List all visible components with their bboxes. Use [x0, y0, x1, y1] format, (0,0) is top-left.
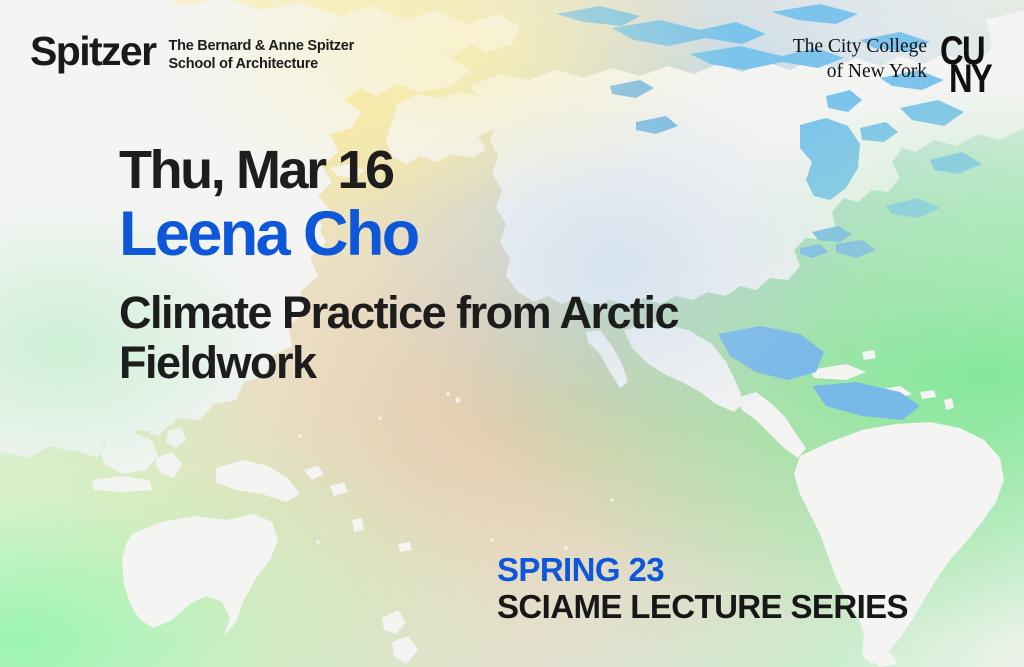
cuny-logo-bottom-letters: NY	[949, 58, 991, 98]
event-headline-block: Thu, Mar 16 Leena Cho Climate Practice f…	[119, 143, 949, 387]
lecture-series-block: SPRING 23 SCIAME LECTURE SERIES	[497, 553, 908, 625]
spitzer-wordmark: Spitzer	[30, 31, 156, 71]
spitzer-logo-lockup: Spitzer The Bernard & Anne Spitzer Schoo…	[30, 31, 354, 74]
spitzer-tagline: The Bernard & Anne Spitzer School of Arc…	[169, 38, 355, 74]
speaker-name: Leena Cho	[119, 203, 949, 266]
event-date: Thu, Mar 16	[119, 143, 949, 197]
series-name: SCIAME LECTURE SERIES	[497, 590, 908, 625]
cuny-logo-icon: CU NY	[940, 28, 1002, 90]
ccny-name: The City College of New York	[793, 34, 927, 85]
talk-title: Climate Practice from Arctic Fieldwork	[119, 288, 879, 387]
series-season: SPRING 23	[497, 553, 908, 588]
ccny-logo-lockup: The City College of New York CU NY	[793, 28, 1002, 90]
lecture-poster: Spitzer The Bernard & Anne Spitzer Schoo…	[0, 0, 1024, 667]
